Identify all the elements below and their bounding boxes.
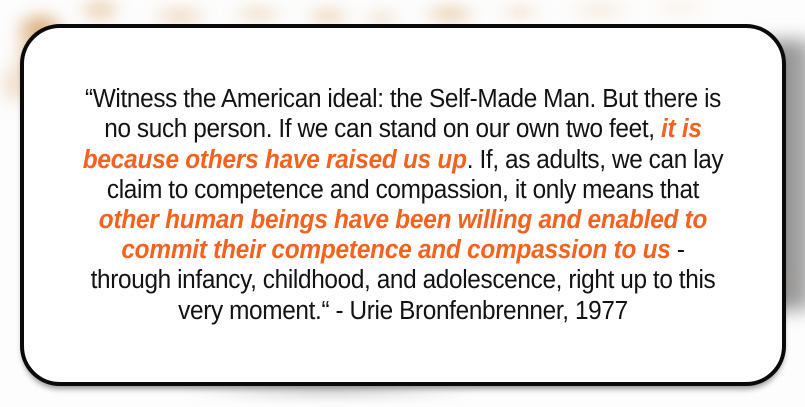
quote-segment-plain-1: “Witness the American ideal: the Self-Ma… — [85, 85, 721, 143]
quote-card: “Witness the American ideal: the Self-Ma… — [20, 24, 786, 386]
quote-text-block: “Witness the American ideal: the Self-Ma… — [79, 84, 726, 326]
background-bottom-haze — [120, 386, 540, 407]
quote-segment-accent-2: other human beings have been willing and… — [99, 206, 707, 264]
quote-card-screenshot: “Witness the American ideal: the Self-Ma… — [0, 0, 805, 407]
